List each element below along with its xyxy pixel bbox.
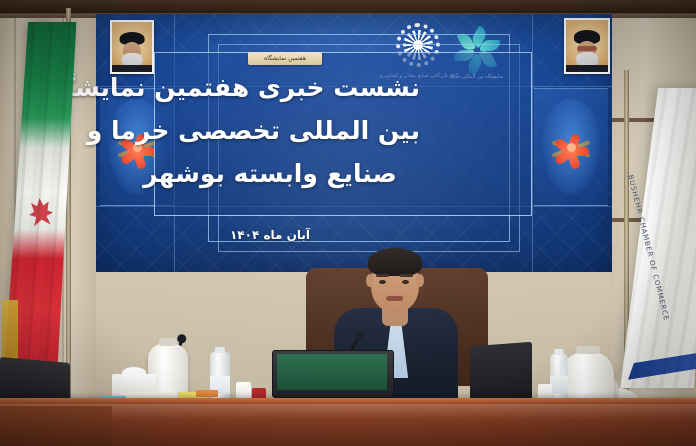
laptop-center: [272, 350, 392, 402]
headline-line-1: نشست خبری هفتمین نمایشگاه: [120, 66, 420, 109]
conference-table-front: [0, 406, 112, 446]
water-bottle-right: [550, 354, 568, 404]
banner-ribbon-tag: هفتمین نمایشگاه: [248, 52, 322, 65]
speaker-mouth: [386, 296, 403, 301]
speaker-hair: [368, 248, 422, 276]
banner-date: آبان ماه ۱۴۰۴: [120, 228, 420, 242]
banner-headline: نشست خبری هفتمین نمایشگاه بین المللی تخص…: [120, 66, 420, 195]
speaker-eye-left: [379, 280, 386, 284]
banner-ribbon-text: هفتمین نمایشگاه: [264, 55, 306, 62]
laptop-right: [470, 344, 532, 402]
speaker-ear-right: [416, 274, 424, 287]
bushehr-chamber-flag: BUSHEHR CHAMBER OF COMMERCE: [628, 88, 696, 388]
backdrop-stripe-v2: [532, 14, 533, 272]
headline-line-2: بین المللی تخصصی خرما و: [120, 109, 420, 152]
speaker-ear-left: [366, 274, 374, 287]
speaker-eye-right: [402, 280, 409, 284]
portrait-khamenei: [564, 18, 610, 74]
speaker-brow-right: [400, 274, 413, 277]
document-strip-orange: [196, 390, 218, 397]
headline-line-3: صنایع وابسته بوشهر: [120, 152, 420, 195]
speaker-brow-left: [376, 274, 389, 277]
conference-room-photo: اتاق بازرگانی صنایع معادن و کشاورزی نمای…: [0, 0, 696, 446]
flower-ornament-right: [550, 126, 592, 168]
decorative-medallion-right: [534, 88, 608, 206]
ceiling-beam: [0, 0, 696, 14]
